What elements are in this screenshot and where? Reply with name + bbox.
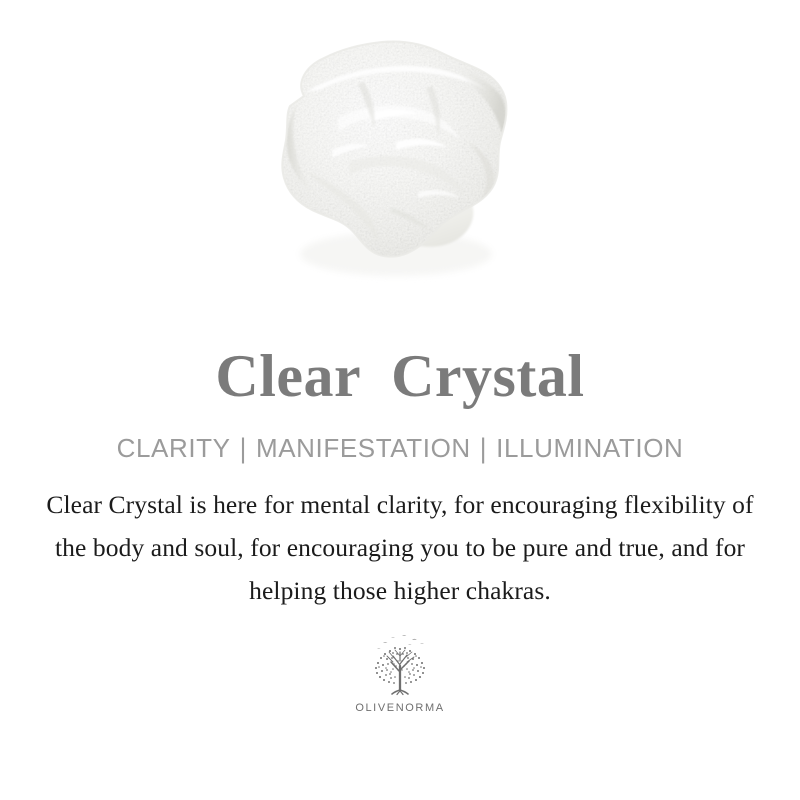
keyword-list: CLARITY | MANIFESTATION | ILLUMINATION <box>117 434 684 463</box>
crystal-image <box>246 22 536 297</box>
olive-tree-logo-icon <box>357 634 443 700</box>
product-image-area <box>0 0 800 320</box>
keyword-illumination: ILLUMINATION <box>496 434 683 463</box>
page-title: Clear Crystal <box>215 346 584 406</box>
keyword-separator: | <box>231 433 256 463</box>
clear-crystal-stone-icon <box>246 22 536 297</box>
product-description: Clear Crystal is here for mental clarity… <box>35 483 765 612</box>
product-info-card: Clear Crystal CLARITY | MANIFESTATION | … <box>0 0 800 800</box>
brand-logo: OLIVENORMA <box>355 634 444 714</box>
keyword-manifestation: MANIFESTATION <box>256 434 471 463</box>
keyword-clarity: CLARITY <box>117 434 231 463</box>
keyword-separator: | <box>471 433 496 463</box>
brand-wordmark: OLIVENORMA <box>355 702 444 714</box>
